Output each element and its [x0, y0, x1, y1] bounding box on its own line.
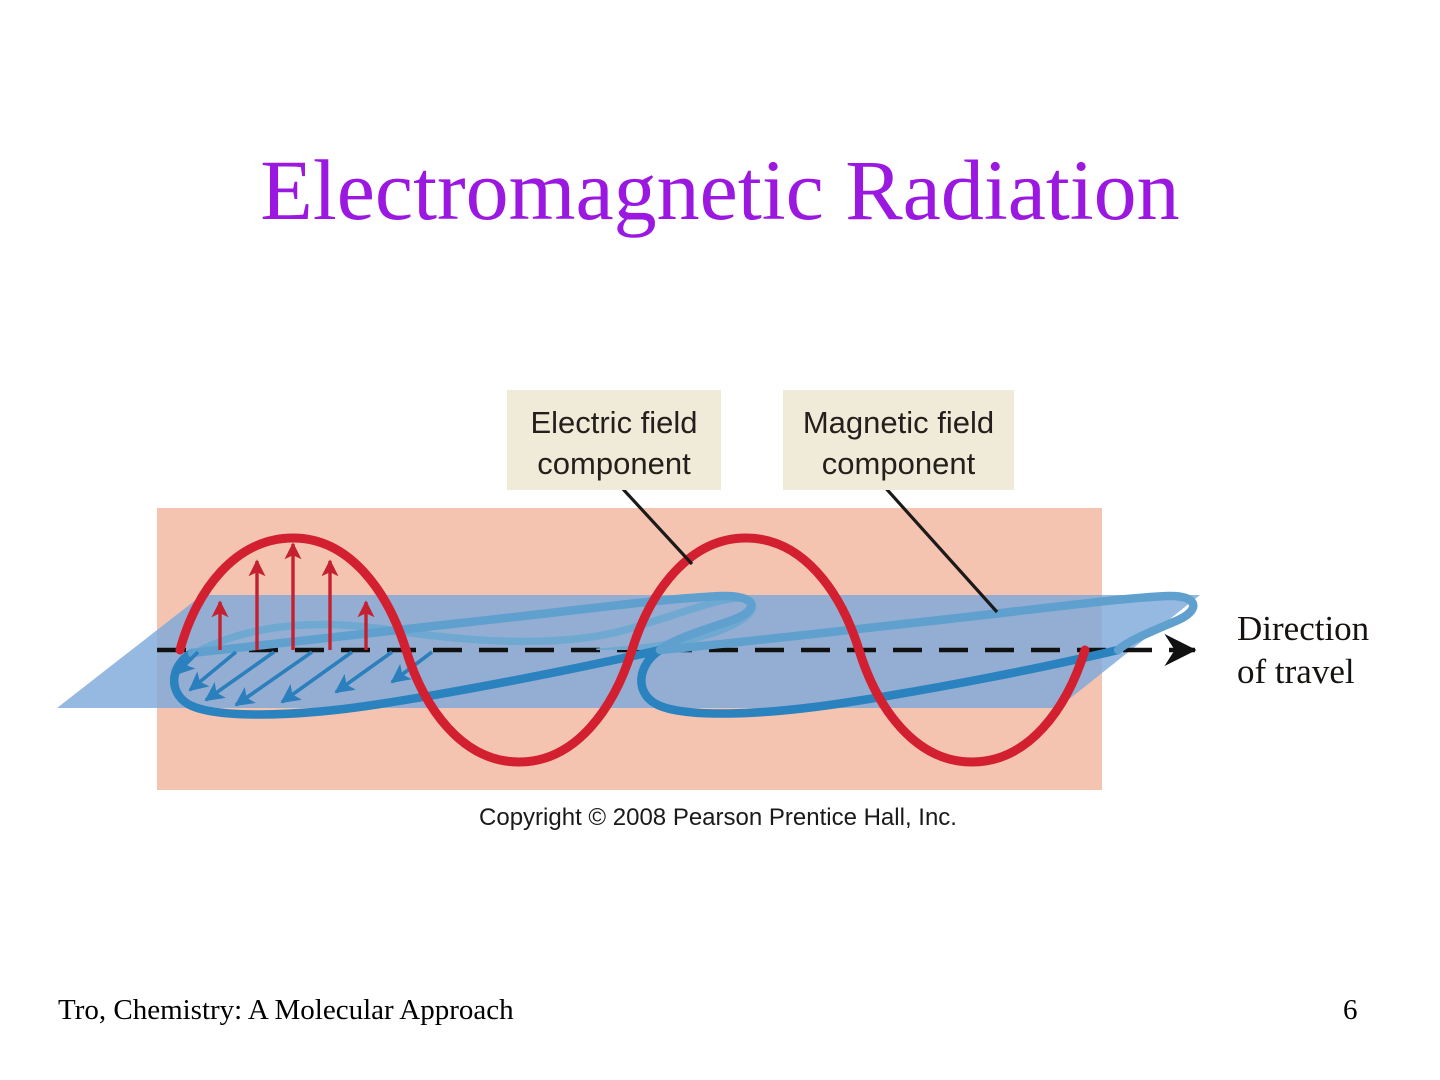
direction-line2: of travel — [1237, 650, 1437, 693]
direction-line1: Direction — [1237, 607, 1437, 650]
label-magnetic-line1: Magnetic field — [793, 402, 1004, 443]
slide-canvas: Electromagnetic Radiation — [0, 0, 1440, 1080]
label-magnetic-line2: component — [793, 443, 1004, 484]
footer-page-number: 6 — [1343, 992, 1358, 1028]
figure-copyright-text: Copyright © 2008 Pearson Prentice Hall, … — [479, 803, 957, 833]
figure-copyright: Copyright © 2008 Pearson Prentice Hall, … — [0, 803, 1440, 833]
label-direction-of-travel: Direction of travel — [1237, 607, 1437, 693]
page-title: Electromagnetic Radiation — [0, 138, 1440, 242]
label-electric-field: Electric field component — [507, 390, 721, 490]
footer-source: Tro, Chemistry: A Molecular Approach — [58, 992, 514, 1028]
label-electric-line1: Electric field — [517, 402, 711, 443]
label-magnetic-field: Magnetic field component — [783, 390, 1014, 490]
label-electric-line2: component — [517, 443, 711, 484]
